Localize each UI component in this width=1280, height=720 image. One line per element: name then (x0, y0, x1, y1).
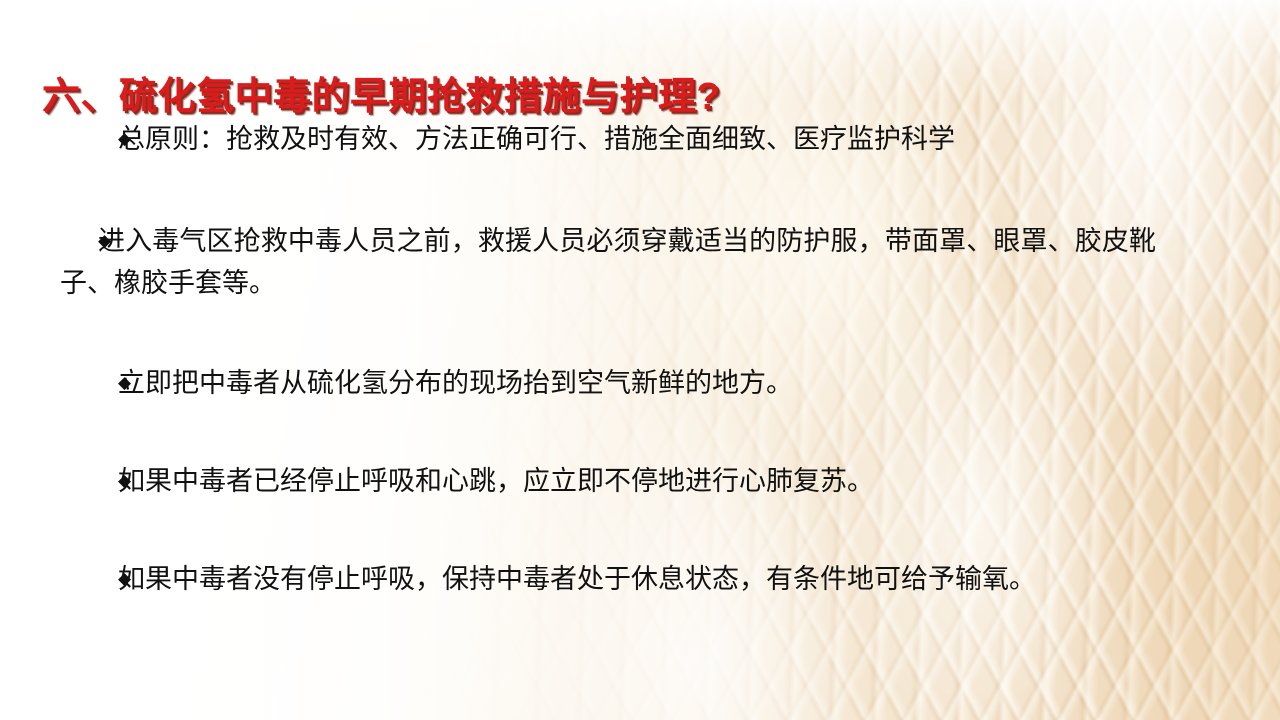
bullet-paragraph: ◆ 立即把中毒者从硫化氢分布的现场抬到空气新鲜的地方。 (0, 362, 1280, 404)
diamond-bullet-icon: ◆ (118, 362, 131, 404)
diamond-bullet-icon: ◆ (118, 558, 131, 600)
bullet-paragraph-text: 如果中毒者没有停止呼吸，保持中毒者处于休息状态，有条件地可给予输氧。 (0, 558, 1218, 600)
bullet-paragraph-text: 进入毒气区抢救中毒人员之前，救援人员必须穿戴适当的防护服，带面罩、眼罩、胶皮靴子… (0, 220, 1218, 304)
bullet-paragraph: ◆ 进入毒气区抢救中毒人员之前，救援人员必须穿戴适当的防护服，带面罩、眼罩、胶皮… (0, 220, 1280, 304)
bullet-paragraph-text: 如果中毒者已经停止呼吸和心跳，应立即不停地进行心肺复苏。 (0, 460, 1218, 502)
bullet-paragraph-text: 立即把中毒者从硫化氢分布的现场抬到空气新鲜的地方。 (0, 362, 1218, 404)
diamond-bullet-icon: ◆ (118, 118, 131, 160)
diamond-bullet-icon: ◆ (98, 220, 111, 262)
bullet-paragraph-text: 总原则：抢救及时有效、方法正确可行、措施全面细致、医疗监护科学 (0, 118, 1218, 160)
slide-body: ◆ 总原则：抢救及时有效、方法正确可行、措施全面细致、医疗监护科学 ◆ 进入毒气… (0, 118, 1280, 600)
bullet-paragraph: ◆ 如果中毒者已经停止呼吸和心跳，应立即不停地进行心肺复苏。 (0, 460, 1280, 502)
bullet-paragraph: ◆ 如果中毒者没有停止呼吸，保持中毒者处于休息状态，有条件地可给予输氧。 (0, 558, 1280, 600)
bullet-paragraph: ◆ 总原则：抢救及时有效、方法正确可行、措施全面细致、医疗监护科学 (0, 118, 1280, 160)
slide-title: 六、硫化氢中毒的早期抢救措施与护理? (42, 77, 720, 119)
presentation-slide: 六、硫化氢中毒的早期抢救措施与护理? ◆ 总原则：抢救及时有效、方法正确可行、措… (0, 0, 1280, 720)
slide-content: 六、硫化氢中毒的早期抢救措施与护理? ◆ 总原则：抢救及时有效、方法正确可行、措… (0, 0, 1280, 720)
diamond-bullet-icon: ◆ (118, 460, 131, 502)
